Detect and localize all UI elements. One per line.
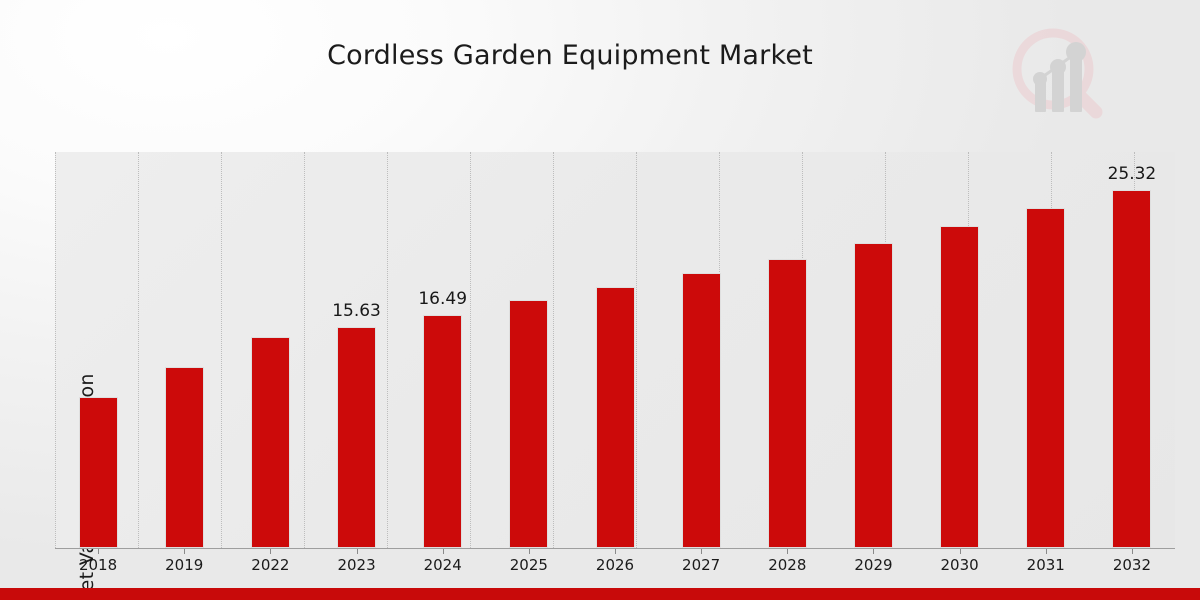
x-tick-label-2028: 2028 [742, 556, 832, 574]
bottom-accent-band [0, 588, 1200, 600]
gridline [387, 152, 389, 548]
x-tick-label-2030: 2030 [915, 556, 1005, 574]
x-tick-mark-2032 [1132, 549, 1133, 554]
bar-2024[interactable] [423, 315, 462, 548]
x-tick-mark-2028 [787, 549, 788, 554]
x-tick-mark-2029 [873, 549, 874, 554]
gridline [304, 152, 306, 548]
bar-2025[interactable] [509, 300, 548, 548]
gridline [138, 152, 140, 548]
gridline [470, 152, 472, 548]
x-tick-mark-2019 [184, 549, 185, 554]
bar-2019[interactable] [165, 367, 204, 548]
x-tick-mark-2030 [960, 549, 961, 554]
bar-2029[interactable] [854, 243, 893, 548]
x-tick-mark-2027 [701, 549, 702, 554]
bar-value-label-2032: 25.32 [1087, 164, 1177, 184]
magnifier-bar-chart-logo [1004, 22, 1112, 130]
x-tick-label-2026: 2026 [570, 556, 660, 574]
x-tick-label-2025: 2025 [484, 556, 574, 574]
bar-2026[interactable] [596, 287, 635, 548]
bar-2030[interactable] [940, 226, 979, 548]
chart-figure: Cordless Garden Equipment Market [0, 0, 1200, 600]
gridline [221, 152, 223, 548]
x-tick-mark-2031 [1046, 549, 1047, 554]
x-tick-mark-2022 [270, 549, 271, 554]
bar-2022[interactable] [251, 337, 290, 548]
bar-value-label-2023: 15.63 [312, 301, 402, 321]
x-tick-label-2027: 2027 [656, 556, 746, 574]
bar-2032[interactable] [1112, 190, 1151, 548]
x-tick-mark-2024 [443, 549, 444, 554]
x-tick-label-2019: 2019 [139, 556, 229, 574]
x-tick-mark-2023 [357, 549, 358, 554]
bar-value-label-2024: 16.49 [398, 289, 488, 309]
x-tick-mark-2026 [615, 549, 616, 554]
x-tick-label-2023: 2023 [312, 556, 402, 574]
bar-2027[interactable] [682, 273, 721, 548]
x-tick-label-2032: 2032 [1087, 556, 1177, 574]
bar-2028[interactable] [768, 259, 807, 548]
x-tick-label-2018: 2018 [53, 556, 143, 574]
gridline [636, 152, 638, 548]
x-tick-label-2024: 2024 [398, 556, 488, 574]
gridline [553, 152, 555, 548]
bar-2018[interactable] [79, 397, 118, 548]
bar-2023[interactable] [337, 327, 376, 548]
x-tick-label-2022: 2022 [225, 556, 315, 574]
x-tick-mark-2025 [529, 549, 530, 554]
x-tick-mark-2018 [98, 549, 99, 554]
bar-2031[interactable] [1026, 208, 1065, 548]
x-tick-label-2029: 2029 [828, 556, 918, 574]
x-tick-label-2031: 2031 [1001, 556, 1091, 574]
gridline [55, 152, 57, 548]
